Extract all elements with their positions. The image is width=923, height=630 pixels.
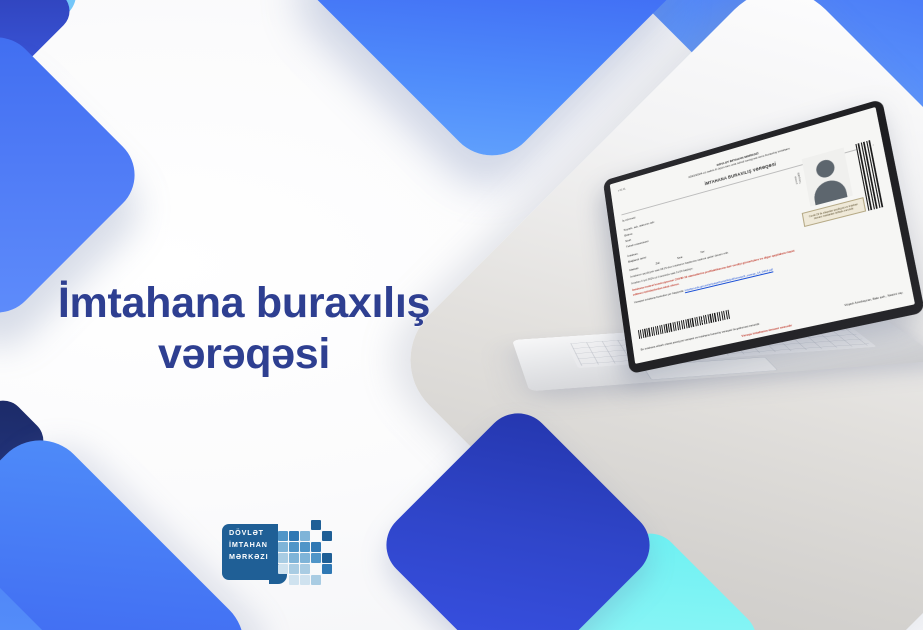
logo-pixel xyxy=(311,575,321,585)
logo-pixel xyxy=(278,542,288,552)
doc-column-label: Yer: xyxy=(700,249,706,254)
doc-column-label: Məktəb: xyxy=(629,266,639,273)
logo-pixel xyxy=(311,553,321,563)
doc-photo-label: Şəxsin fotoşəkili xyxy=(795,172,804,185)
logo-pixel xyxy=(278,553,288,563)
logo-pixel xyxy=(322,531,332,541)
logo-pixel xyxy=(289,575,299,585)
logo-pixel xyxy=(322,564,332,574)
logo-pixel xyxy=(289,531,299,541)
avatar-head-icon xyxy=(815,158,836,180)
page-title-line2: vərəqəsi xyxy=(18,329,470,380)
poster-canvas: İmtahana buraxılış vərəqəsi Dövlət İmtah… xyxy=(0,0,923,630)
logo-line2: İmtahan xyxy=(229,539,269,551)
laptop-illustration: v 01.01 DÖVLƏT İMTAHAN MƏRKƏZİ 2023/2024… xyxy=(512,168,923,438)
logo-pixel xyxy=(278,531,288,541)
logo-line3: Mərkəzi xyxy=(229,551,269,563)
logo-pixel xyxy=(278,564,288,574)
logo-pixel xyxy=(300,564,310,574)
logo-pixel xyxy=(322,553,332,563)
doc-column-label: Zal: xyxy=(655,260,660,265)
logo-line1: Dövlət xyxy=(229,527,269,539)
logo-pixel xyxy=(300,575,310,585)
logo-pixel xyxy=(300,542,310,552)
doc-fields: İş nömrəsi: Soyadı, adı, atasının adı: B… xyxy=(622,173,803,297)
page-title-line1: İmtahana buraxılış xyxy=(58,279,430,327)
logo-pixel xyxy=(289,542,299,552)
logo-pixel xyxy=(289,553,299,563)
doc-column-label: Sıra: xyxy=(677,255,684,261)
logo-pixel-grid-icon xyxy=(278,516,344,588)
logo-pixel xyxy=(300,553,310,563)
avatar xyxy=(802,147,853,206)
avatar-body-icon xyxy=(812,177,848,205)
logo-pixel xyxy=(311,542,321,552)
logo-pixel xyxy=(289,564,299,574)
dim-logo: Dövlət İmtahan Mərkəzi xyxy=(222,516,344,588)
logo-text: Dövlət İmtahan Mərkəzi xyxy=(229,527,269,564)
logo-pixel xyxy=(311,520,321,530)
logo-pixel xyxy=(300,531,310,541)
page-title: İmtahana buraxılış vərəqəsi xyxy=(18,278,470,379)
